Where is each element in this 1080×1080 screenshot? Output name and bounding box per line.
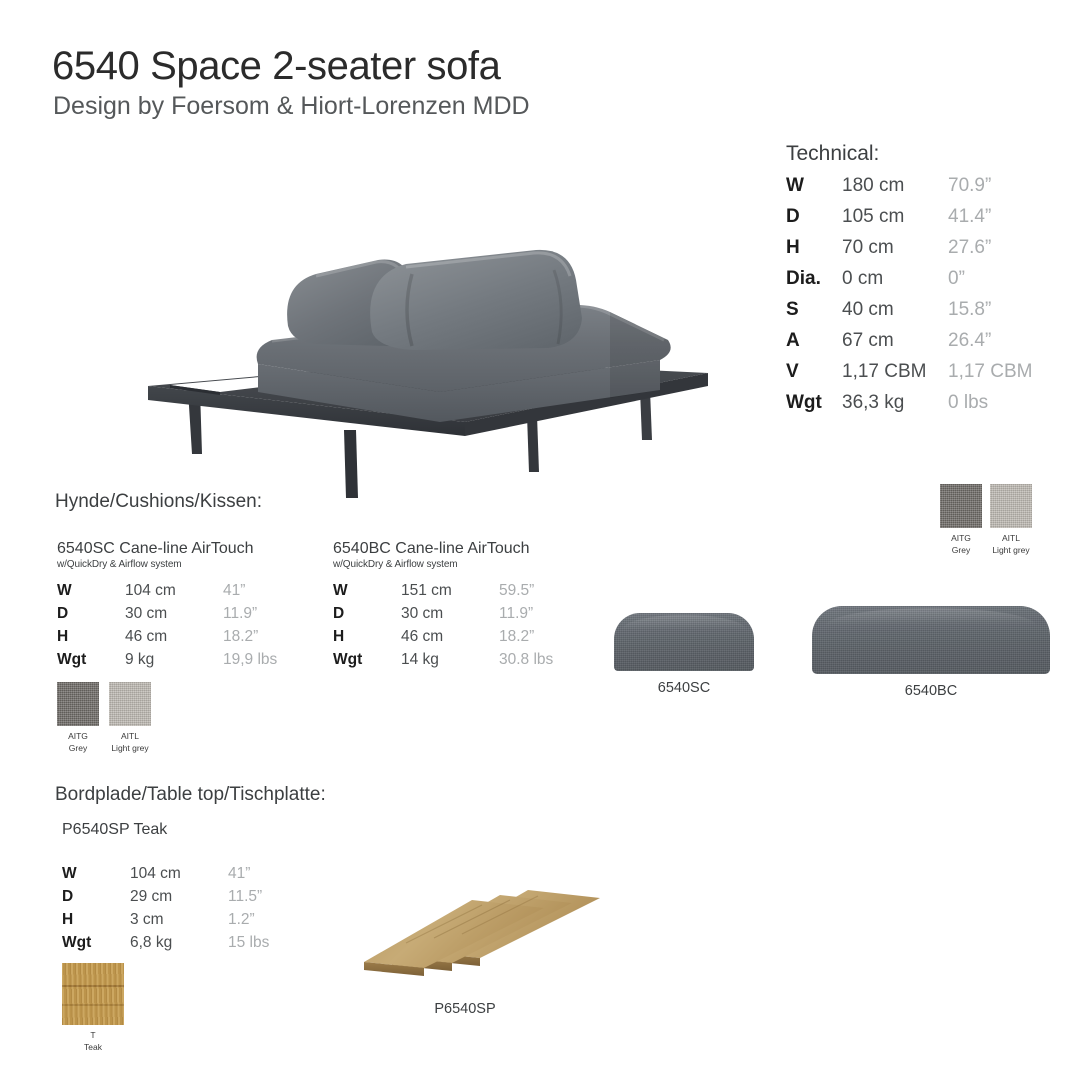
table-row: D 30 cm 11.9”	[333, 605, 553, 628]
spec-label: Wgt	[57, 651, 125, 674]
table-row: S 40 cm 15.8”	[786, 299, 1032, 330]
table-row: D 30 cm 11.9”	[57, 605, 277, 628]
spec-table-6540sc: W 104 cm 41” D 30 cm 11.9” H 46 cm 18.2”…	[57, 582, 277, 674]
spec-imperial: 15 lbs	[228, 934, 269, 957]
product-block-6540bc: 6540BC Cane-line AirTouch w/QuickDry & A…	[333, 540, 553, 674]
spec-imperial: 1.2”	[228, 911, 269, 934]
spec-label: H	[786, 237, 842, 268]
product-name: 6540BC Cane-line AirTouch	[333, 540, 553, 558]
spec-imperial: 26.4”	[948, 330, 1032, 361]
spec-metric: 30 cm	[401, 605, 499, 628]
spec-metric: 6,8 kg	[130, 934, 228, 957]
spec-label: A	[786, 330, 842, 361]
spec-label: Wgt	[62, 934, 130, 957]
spec-imperial: 30.8 lbs	[499, 651, 553, 674]
swatch-aitl[interactable]: AITL Light grey	[109, 682, 151, 753]
spec-table-6540bc: W 151 cm 59.5” D 30 cm 11.9” H 46 cm 18.…	[333, 582, 553, 674]
swatch-label: Teak	[84, 1042, 102, 1052]
spec-label: H	[333, 628, 401, 651]
spec-metric: 30 cm	[125, 605, 223, 628]
spec-imperial: 27.6”	[948, 237, 1032, 268]
sofa-render	[140, 240, 715, 500]
render-caption: P6540SP	[360, 1001, 570, 1017]
cushion-render-6540bc: 6540BC	[812, 606, 1050, 699]
swatch-code: AITG	[951, 533, 971, 543]
table-row: Wgt 14 kg 30.8 lbs	[333, 651, 553, 674]
spec-metric: 1,17 CBM	[842, 361, 948, 392]
spec-metric: 0 cm	[842, 268, 948, 299]
spec-label: V	[786, 361, 842, 392]
swatch-aitl[interactable]: AITL Light grey	[990, 484, 1032, 555]
table-row: Wgt 36,3 kg 0 lbs	[786, 392, 1032, 423]
page-title: 6540 Space 2-seater sofa	[52, 44, 501, 89]
table-row: W 180 cm 70.9”	[786, 175, 1032, 206]
spec-label: W	[786, 175, 842, 206]
page-subtitle: Design by Foersom & Hiort-Lorenzen MDD	[53, 92, 530, 121]
table-row: H 3 cm 1.2”	[62, 911, 269, 934]
spec-metric: 104 cm	[125, 582, 223, 605]
table-row: H 46 cm 18.2”	[333, 628, 553, 651]
table-row: V 1,17 CBM 1,17 CBM	[786, 361, 1032, 392]
swatch-label: Grey	[952, 545, 970, 555]
spec-metric: 151 cm	[401, 582, 499, 605]
cushions-section-heading: Hynde/Cushions/Kissen:	[55, 491, 262, 513]
spec-label: W	[62, 865, 130, 888]
product-subtitle: w/QuickDry & Airflow system	[333, 559, 553, 570]
wood-swatch-teak[interactable]: T Teak	[62, 963, 124, 1052]
product-block-p6540sp: P6540SP Teak W 104 cm 41” D 29 cm 11.5” …	[62, 821, 269, 957]
swatch-code: T	[90, 1030, 95, 1040]
spec-metric: 29 cm	[130, 888, 228, 911]
spec-imperial: 18.2”	[499, 628, 553, 651]
spec-imperial: 11.5”	[228, 888, 269, 911]
fabric-chip-icon	[109, 682, 151, 726]
spec-metric: 46 cm	[401, 628, 499, 651]
spec-label: Wgt	[333, 651, 401, 674]
sofa-illustration	[140, 240, 715, 500]
table-row: W 104 cm 41”	[62, 865, 269, 888]
cushion-highlight	[826, 608, 1035, 626]
spec-imperial: 41”	[223, 582, 277, 605]
table-row: D 105 cm 41.4”	[786, 206, 1032, 237]
table-row: H 70 cm 27.6”	[786, 237, 1032, 268]
tabletop-render-p6540sp: P6540SP	[360, 884, 610, 1017]
swatch-code: AITG	[68, 731, 88, 741]
table-row: Dia. 0 cm 0”	[786, 268, 1032, 299]
cushion-shape-small	[614, 613, 754, 671]
spec-imperial: 70.9”	[948, 175, 1032, 206]
spec-imperial: 19,9 lbs	[223, 651, 277, 674]
fabric-swatch-group-cushions: AITG Grey AITL Light grey	[57, 682, 151, 753]
cushion-shape-big	[812, 606, 1050, 674]
cushion-render-6540sc: 6540SC	[614, 613, 754, 696]
product-block-6540sc: 6540SC Cane-line AirTouch w/QuickDry & A…	[57, 540, 277, 674]
fabric-swatch-group-top: AITG Grey AITL Light grey	[940, 484, 1032, 555]
swatch-aitg[interactable]: AITG Grey	[57, 682, 99, 753]
swatch-label: Grey	[69, 743, 87, 753]
spec-label: Dia.	[786, 268, 842, 299]
fabric-chip-icon	[57, 682, 99, 726]
swatch-label: Light grey	[992, 545, 1029, 555]
spec-metric: 9 kg	[125, 651, 223, 674]
spec-metric: 46 cm	[125, 628, 223, 651]
product-name: 6540SC Cane-line AirTouch	[57, 540, 277, 558]
spec-label: S	[786, 299, 842, 330]
table-row: H 46 cm 18.2”	[57, 628, 277, 651]
spec-label: D	[333, 605, 401, 628]
spec-imperial: 11.9”	[499, 605, 553, 628]
spec-metric: 67 cm	[842, 330, 948, 361]
spec-metric: 104 cm	[130, 865, 228, 888]
spec-imperial: 18.2”	[223, 628, 277, 651]
technical-spec-panel: Technical: W 180 cm 70.9” D 105 cm 41.4”…	[786, 142, 1032, 423]
spec-imperial: 0 lbs	[948, 392, 1032, 423]
spec-imperial: 11.9”	[223, 605, 277, 628]
spec-label: W	[333, 582, 401, 605]
swatch-label: Light grey	[111, 743, 148, 753]
spec-imperial: 41”	[228, 865, 269, 888]
table-row: Wgt 9 kg 19,9 lbs	[57, 651, 277, 674]
spec-label: H	[62, 911, 130, 934]
spec-label: D	[62, 888, 130, 911]
spec-metric: 70 cm	[842, 237, 948, 268]
spec-imperial: 0”	[948, 268, 1032, 299]
cushion-highlight	[622, 615, 745, 630]
fabric-chip-icon	[990, 484, 1032, 528]
spec-label: D	[786, 206, 842, 237]
product-subtitle: w/QuickDry & Airflow system	[57, 559, 277, 570]
table-row: W 151 cm 59.5”	[333, 582, 553, 605]
technical-heading: Technical:	[786, 142, 1032, 166]
swatch-aitg[interactable]: AITG Grey	[940, 484, 982, 555]
spec-table-p6540sp: W 104 cm 41” D 29 cm 11.5” H 3 cm 1.2” W…	[62, 865, 269, 957]
spec-imperial: 15.8”	[948, 299, 1032, 330]
spec-metric: 105 cm	[842, 206, 948, 237]
fabric-chip-icon	[940, 484, 982, 528]
swatch-code: AITL	[121, 731, 139, 741]
teak-chip-icon	[62, 963, 124, 1025]
swatch-code: AITL	[1002, 533, 1020, 543]
product-name: P6540SP Teak	[62, 821, 269, 839]
table-row: D 29 cm 11.5”	[62, 888, 269, 911]
spec-label: Wgt	[786, 392, 842, 423]
teak-panel-illustration	[360, 884, 610, 994]
render-caption: 6540BC	[812, 683, 1050, 699]
spec-imperial: 1,17 CBM	[948, 361, 1032, 392]
spec-label: H	[57, 628, 125, 651]
spec-metric: 14 kg	[401, 651, 499, 674]
spec-label: D	[57, 605, 125, 628]
render-caption: 6540SC	[614, 680, 754, 696]
table-row: Wgt 6,8 kg 15 lbs	[62, 934, 269, 957]
spec-metric: 3 cm	[130, 911, 228, 934]
spec-imperial: 59.5”	[499, 582, 553, 605]
table-row: W 104 cm 41”	[57, 582, 277, 605]
spec-metric: 40 cm	[842, 299, 948, 330]
spec-metric: 180 cm	[842, 175, 948, 206]
spec-label: W	[57, 582, 125, 605]
tabletop-section-heading: Bordplade/Table top/Tischplatte:	[55, 784, 326, 806]
spec-imperial: 41.4”	[948, 206, 1032, 237]
table-row: A 67 cm 26.4”	[786, 330, 1032, 361]
technical-spec-table: W 180 cm 70.9” D 105 cm 41.4” H 70 cm 27…	[786, 175, 1032, 423]
spec-metric: 36,3 kg	[842, 392, 948, 423]
